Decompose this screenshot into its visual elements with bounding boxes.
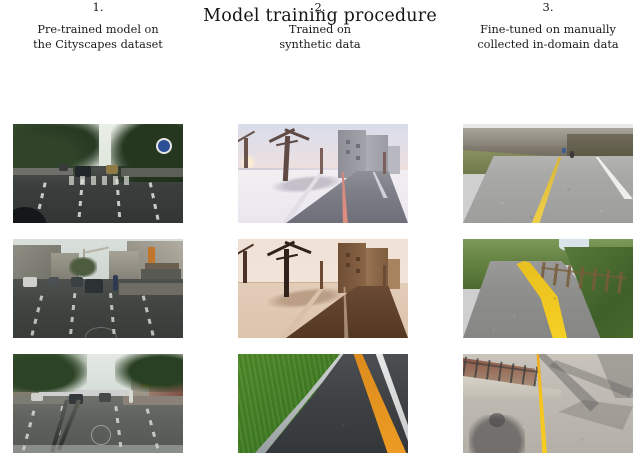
tree-trunk bbox=[320, 261, 323, 289]
vehicle-hood bbox=[13, 445, 183, 453]
window bbox=[346, 263, 350, 267]
window bbox=[356, 257, 360, 261]
car-distant bbox=[59, 164, 68, 171]
asphalt-grain bbox=[463, 239, 633, 338]
column-caption-3-line2: collected in-domain data bbox=[453, 38, 640, 53]
crosswalk-markings bbox=[69, 176, 131, 185]
sample-image-cityscapes-tram-tracks bbox=[13, 354, 183, 453]
asphalt-grain bbox=[463, 354, 633, 453]
scene-real-road-bare-trees bbox=[463, 124, 633, 223]
column-caption-2-line2: synthetic data bbox=[225, 38, 415, 53]
car-parked-left bbox=[31, 393, 43, 401]
scene-real-sunlit-road-shadow bbox=[463, 354, 633, 453]
window bbox=[346, 140, 350, 144]
tree-canopy bbox=[69, 257, 97, 277]
column-header-1: 1. Pre-trained model on the Cityscapes d… bbox=[3, 0, 193, 52]
column-header-3: 3. Fine-tuned on manually collected in-d… bbox=[453, 0, 640, 52]
scene-synthetic-close-road bbox=[238, 354, 408, 453]
column-caption-1: Pre-trained model on the Cityscapes data… bbox=[3, 23, 193, 52]
sidewalk bbox=[119, 283, 183, 295]
window bbox=[356, 156, 360, 160]
car-parked-left-2 bbox=[49, 277, 59, 285]
tree-canopy-right bbox=[115, 354, 183, 392]
column-caption-2-line1: Trained on bbox=[225, 23, 415, 38]
scene-cityscapes-boulevard bbox=[13, 124, 183, 223]
scene-synthetic-sepia-street bbox=[238, 239, 408, 338]
building-far bbox=[386, 146, 400, 174]
asphalt-grain bbox=[238, 354, 408, 453]
column-caption-3-line1: Fine-tuned on manually bbox=[453, 23, 640, 38]
car-mid bbox=[106, 165, 118, 174]
scene-cityscapes-tram-tracks bbox=[13, 354, 183, 453]
column-caption-3: Fine-tuned on manually collected in-doma… bbox=[453, 23, 640, 52]
step-number-3: 3. bbox=[453, 0, 640, 14]
sample-image-synthetic-close-road bbox=[238, 354, 408, 453]
tree-trunk bbox=[383, 265, 386, 289]
car-near bbox=[85, 279, 103, 293]
sample-image-real-green-bike-path bbox=[463, 239, 633, 338]
scene-synthetic-winter-street bbox=[238, 124, 408, 223]
column-caption-1-line1: Pre-trained model on bbox=[3, 23, 193, 38]
asphalt-grain bbox=[463, 124, 633, 223]
column-caption-1-line2: the Cityscapes dataset bbox=[3, 38, 193, 53]
pedestrian bbox=[113, 275, 118, 291]
building-far bbox=[386, 259, 400, 289]
sample-image-cityscapes-narrow-street bbox=[13, 239, 183, 338]
window bbox=[356, 269, 360, 273]
tree-trunk bbox=[243, 251, 247, 283]
column-header-2: 2. Trained on synthetic data bbox=[225, 0, 415, 52]
step-number-1: 1. bbox=[3, 0, 193, 14]
sample-image-real-sunlit-road-shadow bbox=[463, 354, 633, 453]
sample-image-cityscapes-boulevard bbox=[13, 124, 183, 223]
car-mid bbox=[71, 277, 83, 287]
window bbox=[346, 150, 350, 154]
window bbox=[356, 144, 360, 148]
tree-trunk bbox=[320, 148, 323, 174]
road-sign-icon bbox=[158, 140, 170, 152]
pedestrian bbox=[129, 390, 133, 403]
vehicle-emblem bbox=[91, 425, 111, 445]
shop-banner bbox=[148, 247, 155, 263]
scene-cityscapes-narrow-street bbox=[13, 239, 183, 338]
tree-trunk bbox=[383, 152, 386, 174]
building-near bbox=[338, 130, 366, 178]
tree-trunk bbox=[244, 138, 248, 168]
column-caption-2: Trained on synthetic data bbox=[225, 23, 415, 52]
building-near bbox=[338, 243, 366, 293]
window bbox=[346, 253, 350, 257]
sample-image-synthetic-winter-street bbox=[238, 124, 408, 223]
tree-canopy-left bbox=[13, 354, 87, 392]
sample-image-synthetic-sepia-street bbox=[238, 239, 408, 338]
scene-real-green-bike-path bbox=[463, 239, 633, 338]
car-parked-left bbox=[23, 277, 37, 287]
car-right bbox=[99, 393, 111, 402]
step-number-2: 2. bbox=[225, 0, 415, 14]
sample-image-real-road-bare-trees bbox=[463, 124, 633, 223]
